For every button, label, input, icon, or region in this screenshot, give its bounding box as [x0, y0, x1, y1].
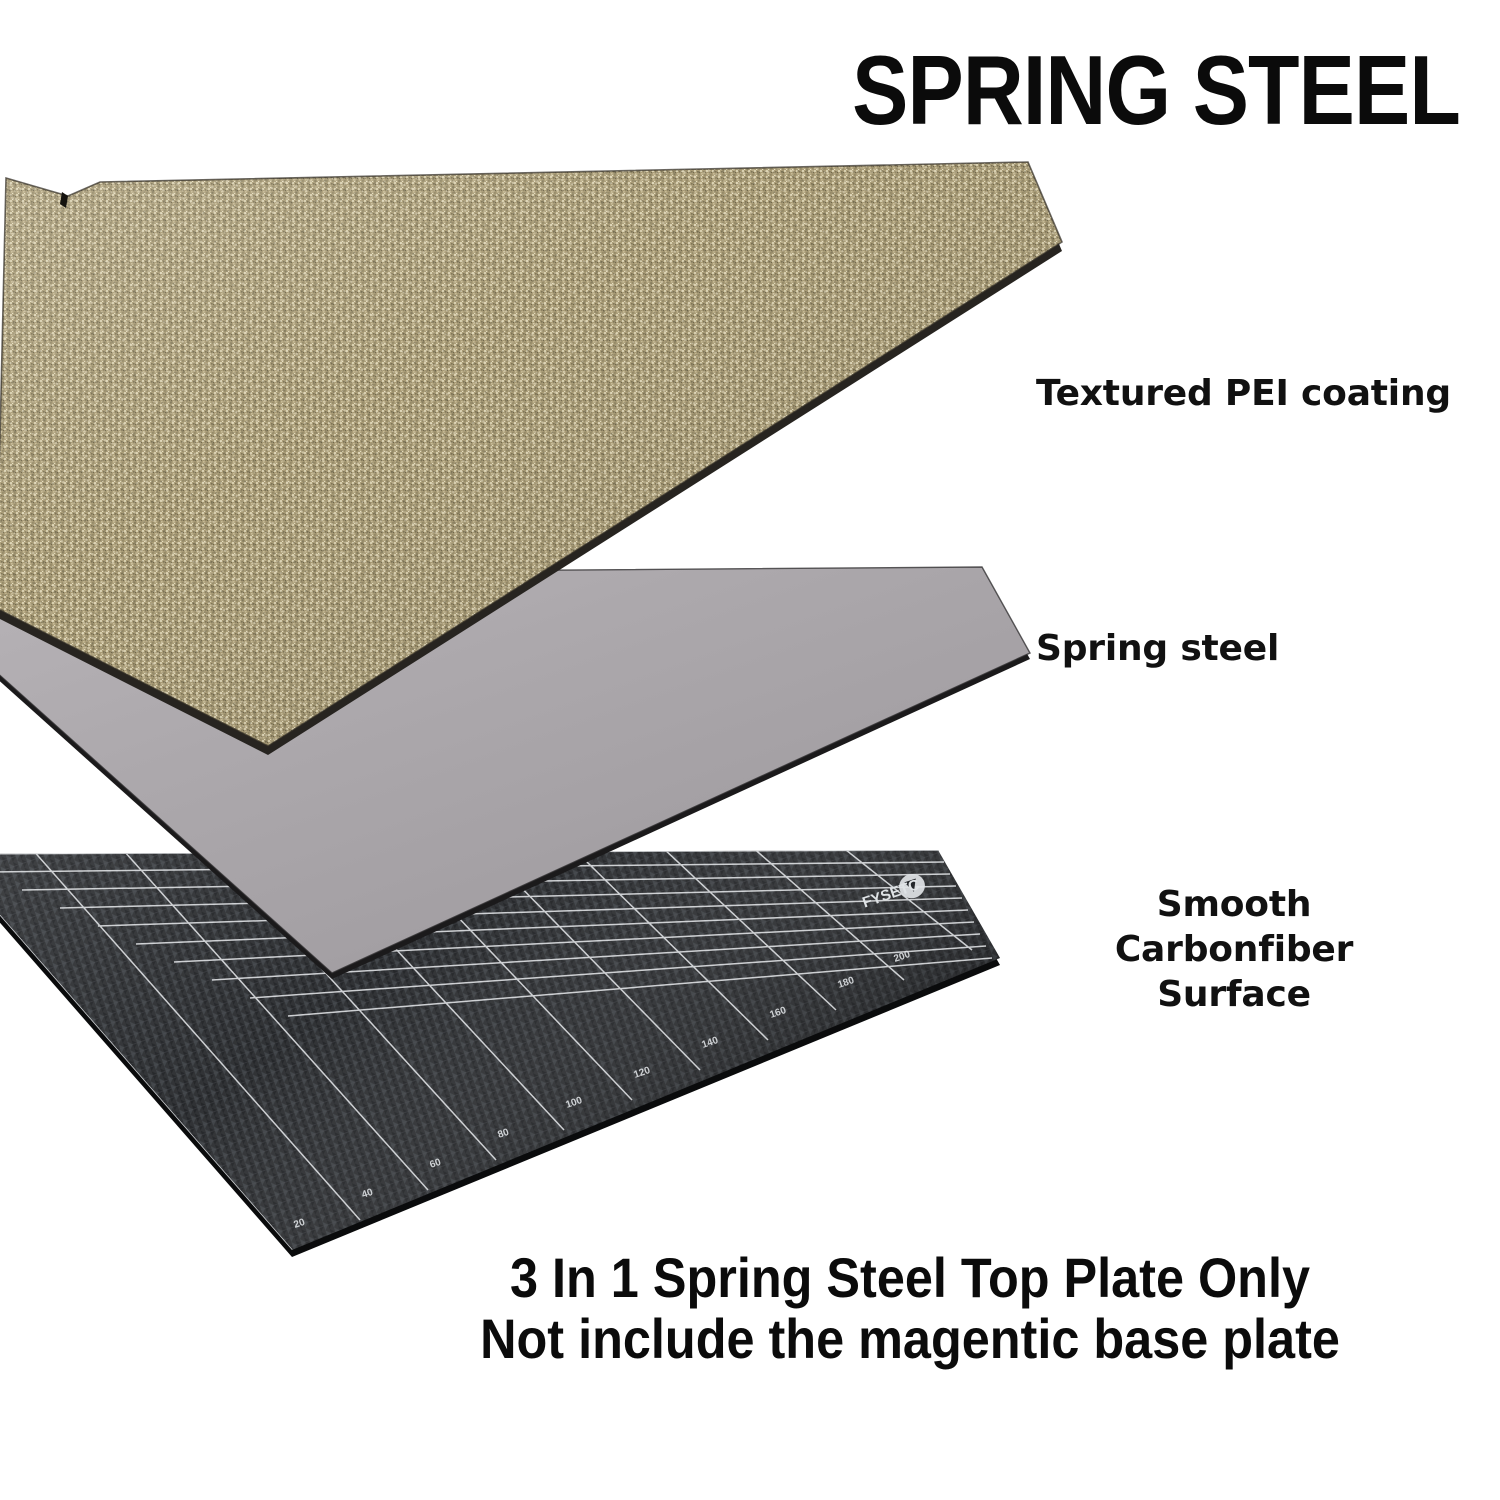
- page-title: SPRING STEEL: [806, 38, 1460, 142]
- infographic-canvas: SPRING STEEL: [0, 0, 1500, 1500]
- bottom-caption: 3 In 1 Spring Steel Top Plate Only Not i…: [388, 1247, 1432, 1369]
- caption-line-1: 3 In 1 Spring Steel Top Plate Only: [388, 1247, 1432, 1308]
- label-spring-steel: Spring steel: [1036, 627, 1279, 671]
- label-line-2: Surface: [1157, 974, 1311, 1015]
- label-line-1: Smooth Carbonfiber: [1115, 884, 1353, 970]
- pei-plate: [0, 140, 1060, 760]
- label-textured-pei-coating: Textured PEI coating: [1036, 372, 1451, 416]
- label-smooth-carbonfiber-surface: Smooth Carbonfiber Surface: [1032, 882, 1436, 1017]
- caption-line-2: Not include the magentic base plate: [388, 1308, 1432, 1369]
